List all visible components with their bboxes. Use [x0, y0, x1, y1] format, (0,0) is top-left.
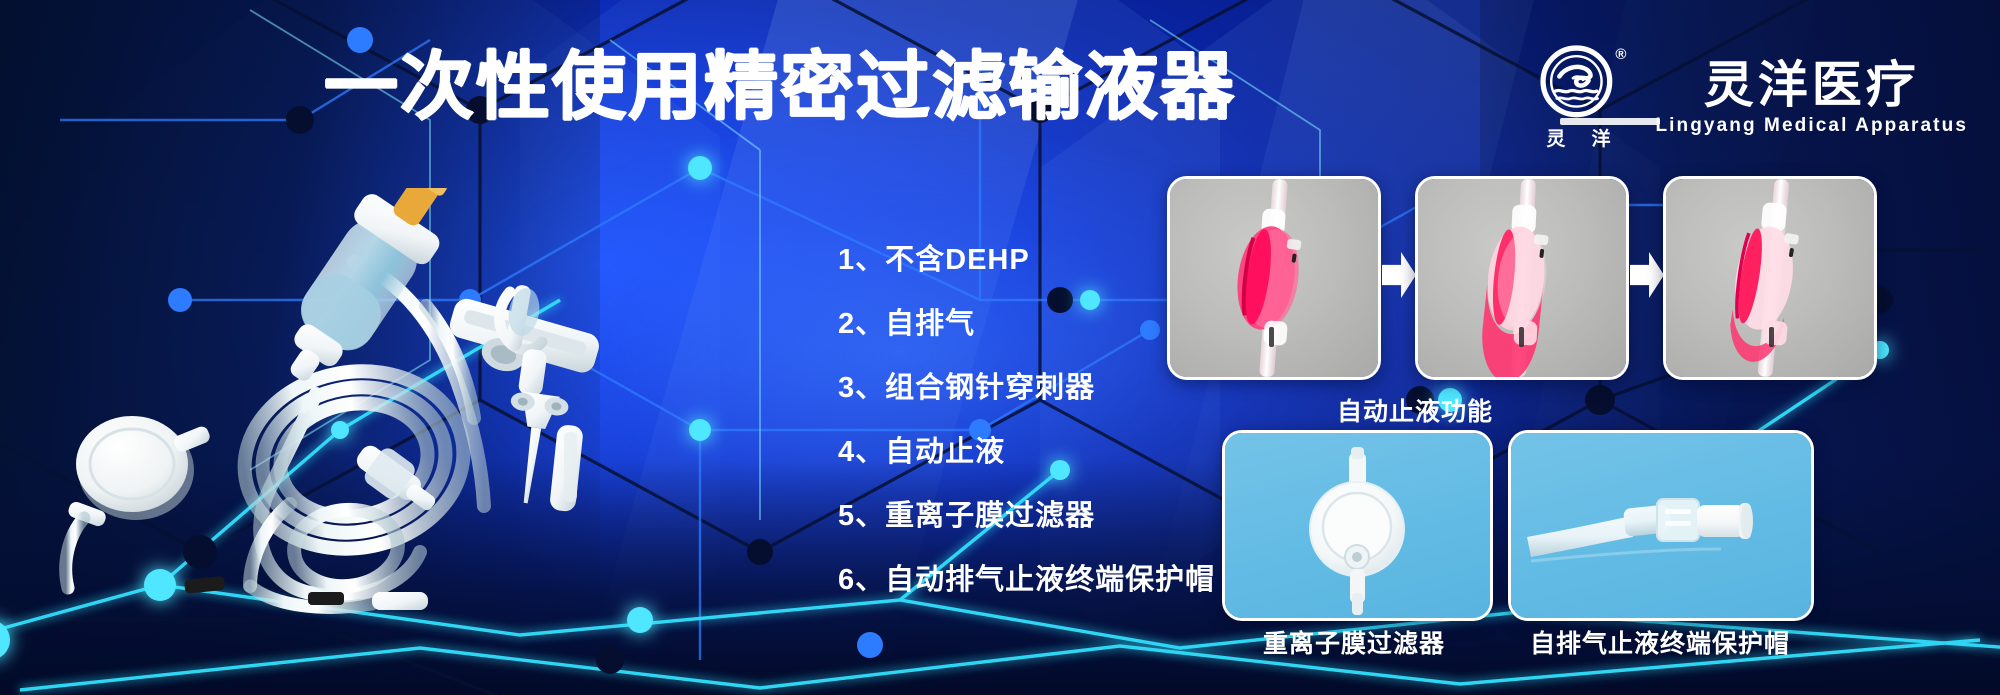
bottom-photo-caption: 自排气止液终端保护帽 [1530, 624, 1790, 660]
brand-name-block: 灵洋医疗 Lingyang Medical Apparatus [1655, 59, 1968, 137]
logo-mark-char-2: 洋 [1591, 124, 1610, 151]
ion-membrane-filter-photo [1222, 430, 1493, 621]
auto-stop-step-3-photo [1663, 176, 1877, 380]
feature-item: 5、重离子膜过滤器 [838, 481, 1215, 545]
infusion-set-photo [54, 188, 704, 618]
page-title: 一次性使用精密过滤输液器 [324, 50, 1236, 124]
dolphin-wave-emblem-icon [1536, 44, 1620, 122]
sequence-caption: 自动止液功能 [1337, 392, 1493, 428]
logo-mark-char-1: 灵 [1546, 124, 1565, 151]
product-banner: 一次性使用精密过滤输液器 ® 灵 洋 灵洋医疗 Lingya [0, 0, 2000, 695]
company-name-en: Lingyang Medical Apparatus [1655, 115, 1968, 137]
disc-filter-part [66, 416, 212, 588]
auto-stop-step-2-photo [1415, 176, 1629, 380]
feature-item: 6、自动排气止液终端保护帽 [838, 545, 1215, 609]
brand-logo: ® 灵 洋 灵洋医疗 Lingyang Medical Apparatus [1527, 44, 1968, 151]
feature-item: 4、自动止液 [838, 417, 1215, 481]
feature-item: 1、不含DEHP [838, 225, 1215, 289]
feature-item: 2、自排气 [838, 289, 1215, 353]
terminal-protective-cap-photo [1508, 430, 1814, 621]
feature-list: 1、不含DEHP 2、自排气 3、组合钢针穿刺器 4、自动止液 5、重离子膜过滤… [838, 225, 1215, 609]
bottom-photo-caption: 重离子膜过滤器 [1263, 624, 1445, 660]
company-name-cn: 灵洋医疗 [1704, 59, 1920, 112]
auto-stop-step-1-photo [1167, 176, 1381, 380]
steel-needle-part [497, 284, 584, 512]
registered-trademark-icon: ® [1615, 46, 1626, 63]
logo-mark: ® 灵 洋 [1527, 44, 1629, 151]
feature-item: 3、组合钢针穿刺器 [838, 353, 1215, 417]
